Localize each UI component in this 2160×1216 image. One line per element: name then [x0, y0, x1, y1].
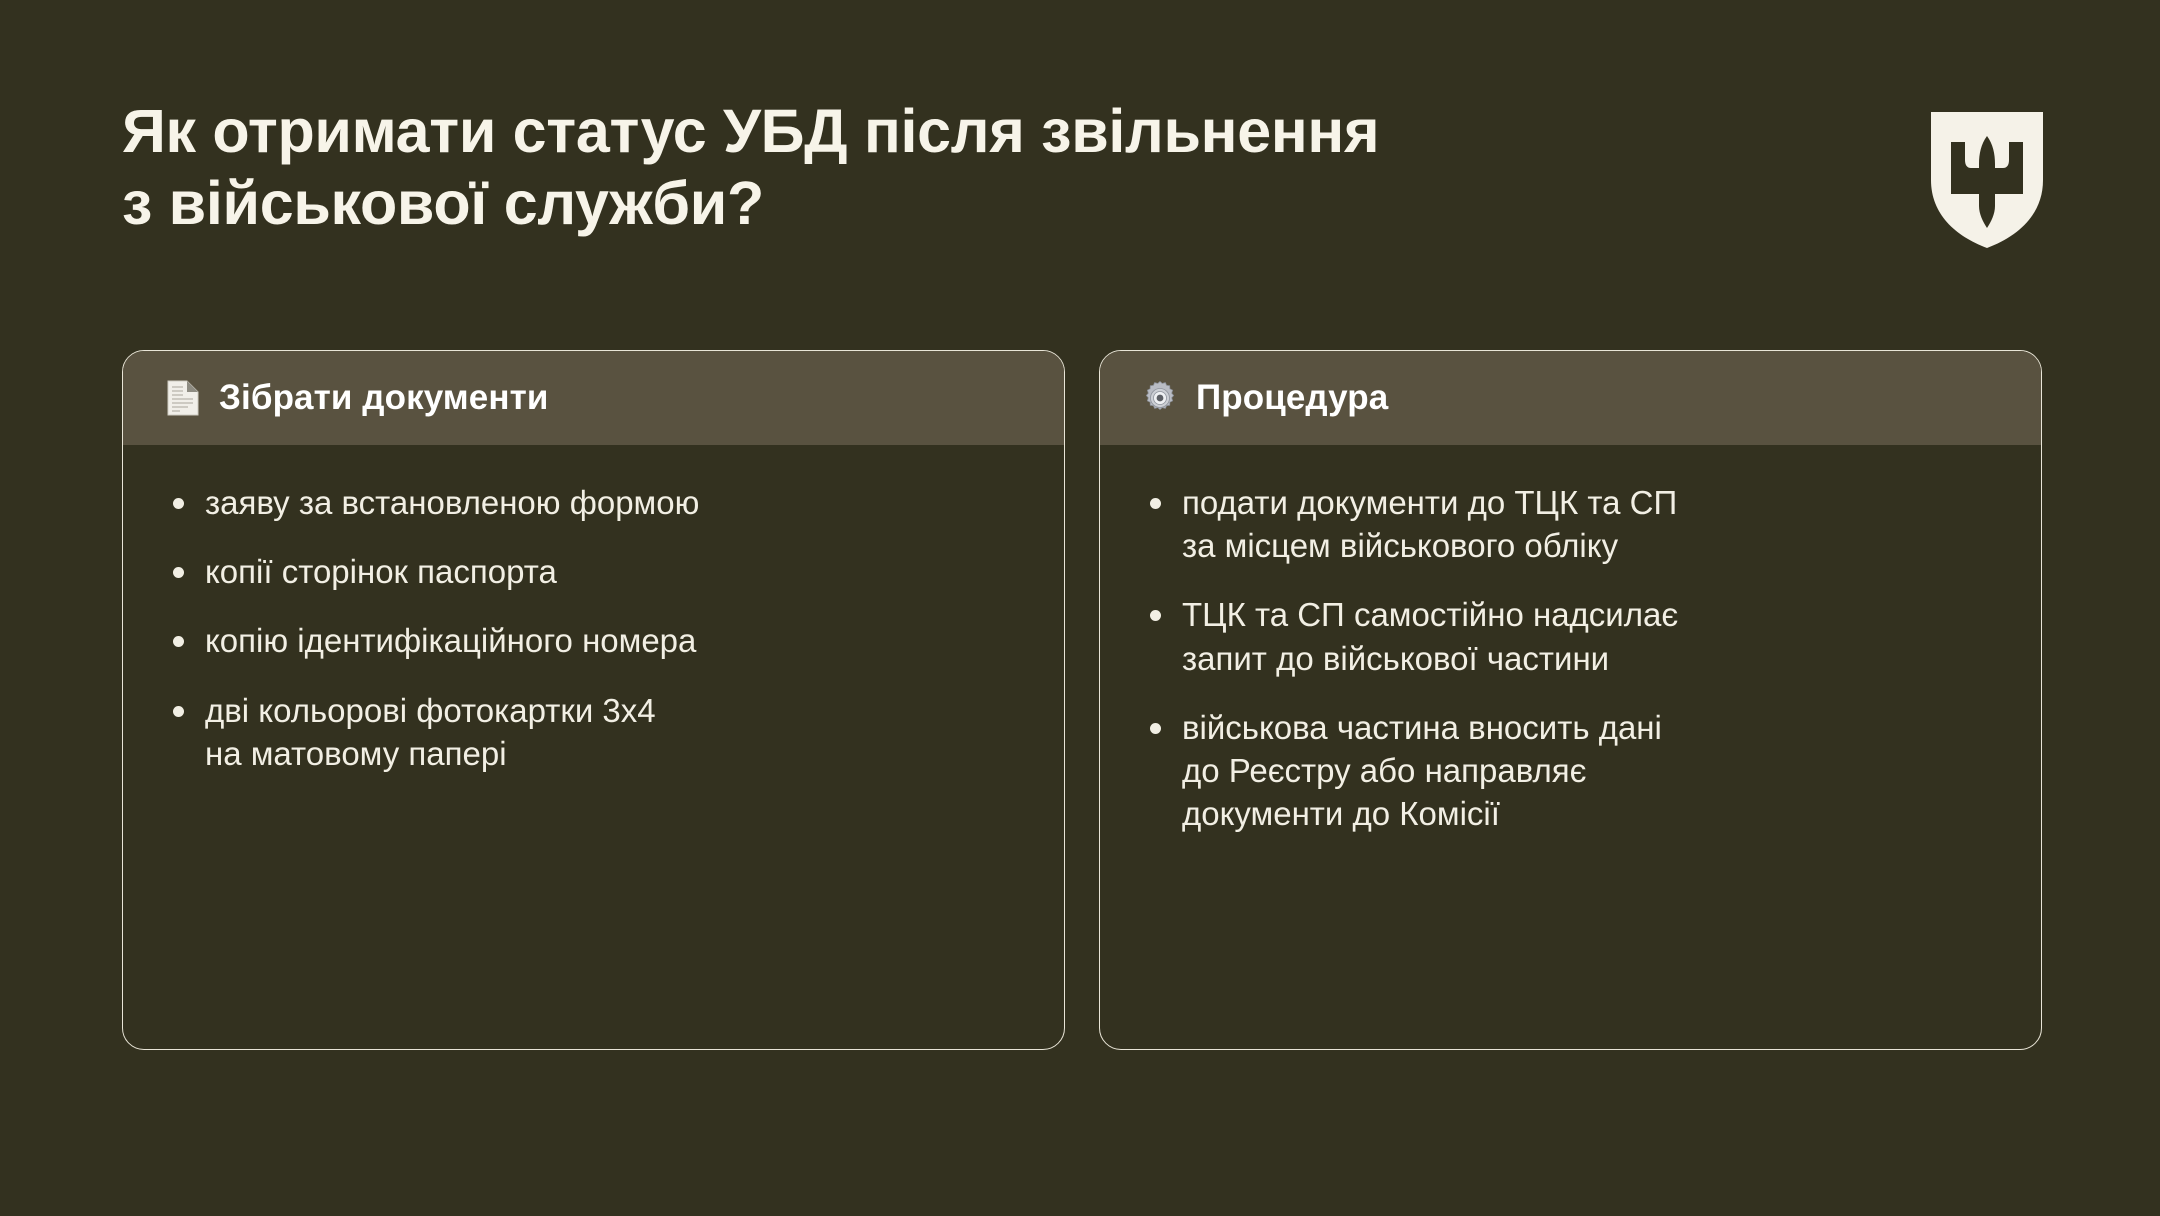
bullet-dot-icon: [1150, 610, 1161, 621]
card-procedure-header: Процедура: [1100, 351, 2041, 445]
page-title: Як отримати статус УБД після звільнення …: [122, 96, 1862, 240]
bullet-dot-icon: [1150, 498, 1161, 509]
list-item: військова частина вносить данідо Реєстру…: [1144, 706, 1997, 836]
bullet-dot-icon: [173, 567, 184, 578]
card-procedure-body: подати документи до ТЦК та СПза місцем в…: [1100, 445, 2041, 1049]
cards-container: Зібрати документи заяву за встановленою …: [122, 350, 2042, 1050]
ukrainian-armed-forces-shield-icon: [1927, 110, 2047, 250]
list-item: копію ідентифікаційного номера: [167, 619, 1020, 662]
bullet-dot-icon: [173, 498, 184, 509]
list-item: дві кольорові фотокартки 3х4на матовому …: [167, 689, 1020, 775]
bullet-dot-icon: [173, 706, 184, 717]
list-item: подати документи до ТЦК та СПза місцем в…: [1144, 481, 1997, 567]
list-item: копії сторінок паспорта: [167, 550, 1020, 593]
bullet-dot-icon: [1150, 723, 1161, 734]
list-item-label: копії сторінок паспорта: [205, 550, 1020, 593]
document-page-icon: [165, 380, 201, 416]
gear-icon: [1142, 380, 1178, 416]
list-item-label: копію ідентифікаційного номера: [205, 619, 1020, 662]
page-title-line-2: з військової служби?: [122, 168, 1862, 240]
list-item-label: дві кольорові фотокартки 3х4на матовому …: [205, 689, 1020, 775]
procedure-bullet-list: подати документи до ТЦК та СПза місцем в…: [1144, 481, 1997, 836]
card-documents-body: заяву за встановленою формоюкопії сторін…: [123, 445, 1064, 1049]
card-documents-title: Зібрати документи: [219, 378, 548, 418]
card-documents: Зібрати документи заяву за встановленою …: [122, 350, 1065, 1050]
list-item: заяву за встановленою формою: [167, 481, 1020, 524]
list-item-label: військова частина вносить данідо Реєстру…: [1182, 706, 1997, 836]
card-procedure-title: Процедура: [1196, 378, 1388, 418]
list-item: ТЦК та СП самостійно надсилаєзапит до ві…: [1144, 593, 1997, 679]
list-item-label: подати документи до ТЦК та СПза місцем в…: [1182, 481, 1997, 567]
page-title-line-1: Як отримати статус УБД після звільнення: [122, 96, 1862, 168]
card-documents-header: Зібрати документи: [123, 351, 1064, 445]
bullet-dot-icon: [173, 636, 184, 647]
list-item-label: заяву за встановленою формою: [205, 481, 1020, 524]
card-procedure: Процедура подати документи до ТЦК та СПз…: [1099, 350, 2042, 1050]
list-item-label: ТЦК та СП самостійно надсилаєзапит до ві…: [1182, 593, 1997, 679]
documents-bullet-list: заяву за встановленою формоюкопії сторін…: [167, 481, 1020, 775]
